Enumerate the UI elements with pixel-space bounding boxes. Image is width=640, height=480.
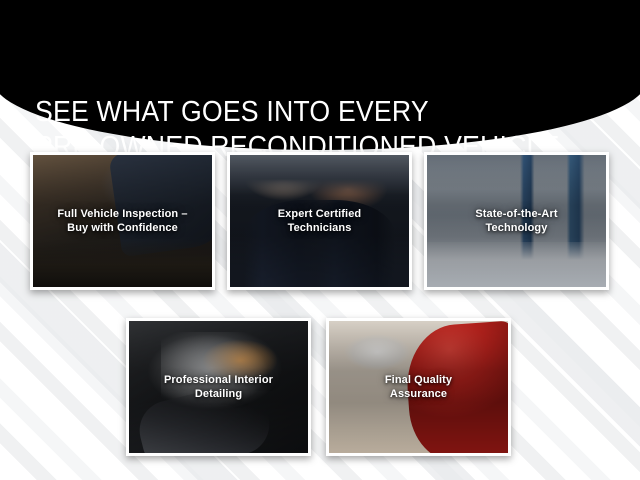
card-expert-certified-technicians[interactable]: Expert Certified Technicians [227, 152, 412, 290]
card-label: Expert Certified Technicians [230, 207, 409, 235]
card-final-quality-assurance[interactable]: Final Quality Assurance [326, 318, 511, 456]
card-label: Professional Interior Detailing [129, 373, 308, 401]
card-label: State-of-the-Art Technology [427, 207, 606, 235]
card-professional-interior-detailing[interactable]: Professional Interior Detailing [126, 318, 311, 456]
card-state-of-the-art-technology[interactable]: State-of-the-Art Technology [424, 152, 609, 290]
card-label: Final Quality Assurance [329, 373, 508, 401]
card-full-vehicle-inspection[interactable]: Full Vehicle Inspection – Buy with Confi… [30, 152, 215, 290]
promo-slide: SEE WHAT GOES INTO EVERY PRE-OWNED RECON… [0, 0, 640, 480]
card-label: Full Vehicle Inspection – Buy with Confi… [33, 207, 212, 235]
